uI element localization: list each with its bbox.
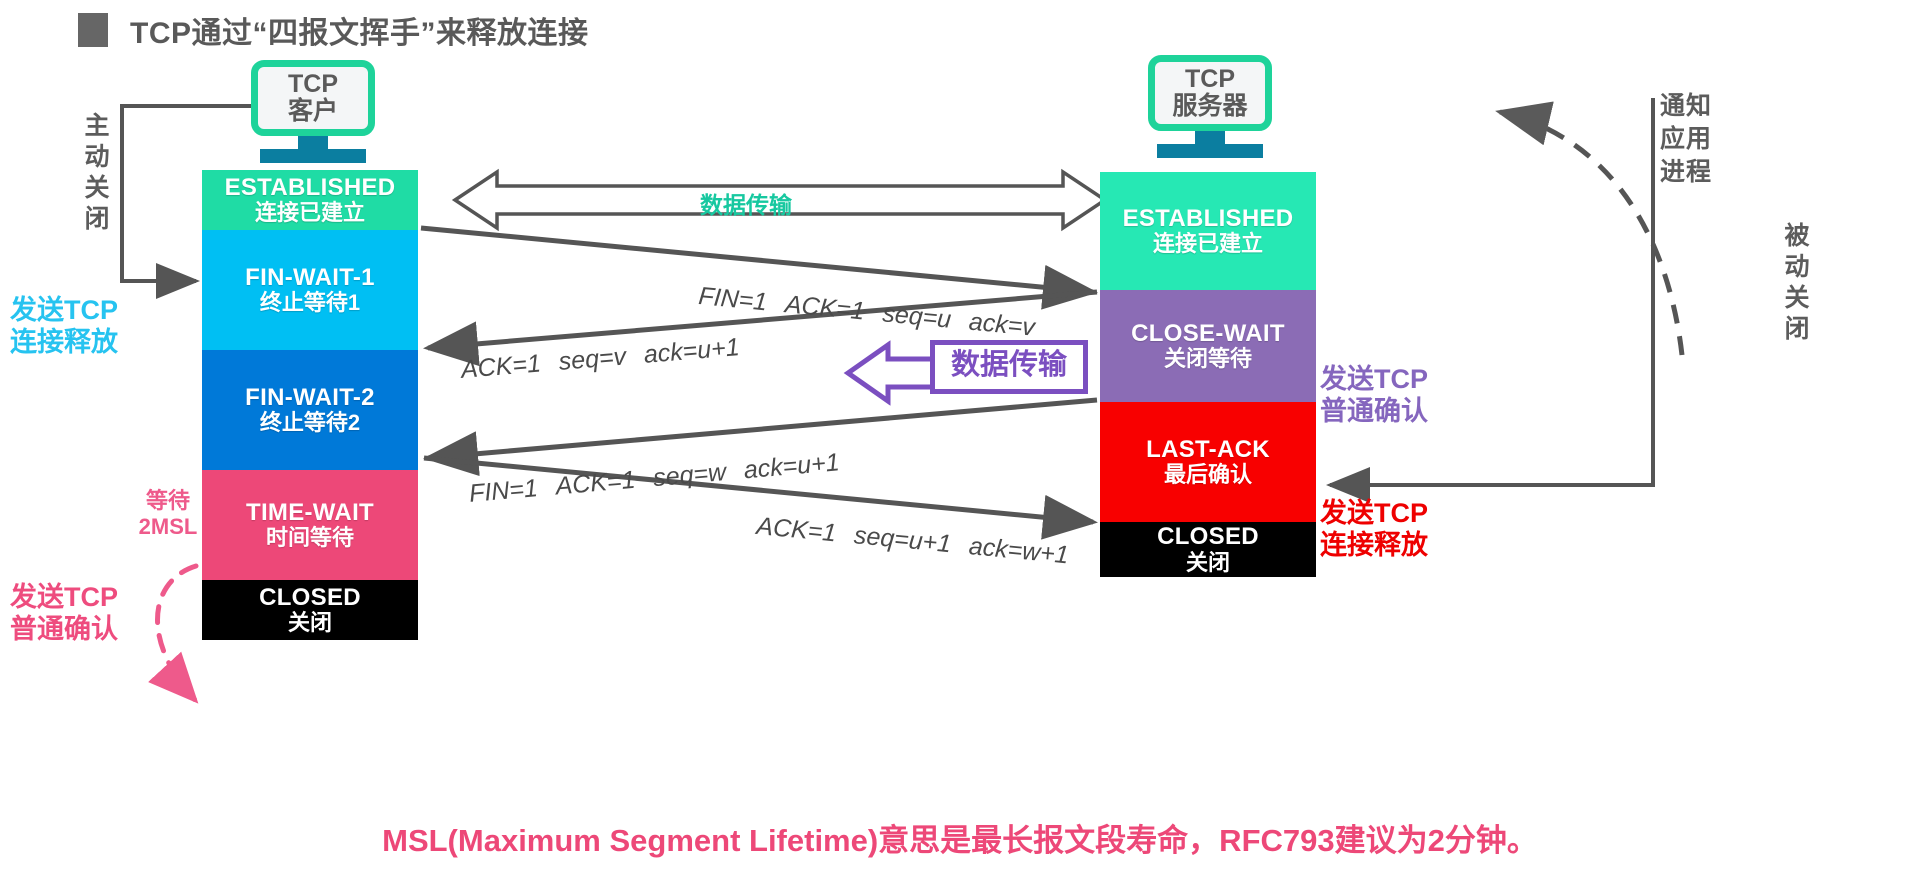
right-note-2-line1: 发送TCP [1320,498,1428,530]
data-transfer-callout-label: 数据传输 [930,340,1088,394]
left-note-1-line2: 连接释放 [10,327,118,359]
state-name-en: CLOSE-WAIT [1131,321,1285,347]
state-box-time-wait: TIME-WAIT时间等待 [202,470,418,580]
server-monitor-base [1157,144,1263,158]
left-note-send-tcp-ack: 发送TCP 普通确认 [10,582,118,646]
server-monitor-neck [1195,131,1225,144]
state-name-cn: 关闭 [288,611,332,635]
state-box-fin-wait-2: FIN-WAIT-2终止等待2 [202,350,418,470]
packet-field-gap [950,552,968,554]
state-box-closed: CLOSED关闭 [202,580,418,640]
state-box-closed: CLOSED关闭 [1100,522,1316,577]
packet-field-gap [636,486,654,488]
msl-caption: MSL(Maximum Segment Lifetime)意思是最长报文段寿命，… [0,815,1920,860]
client-label-line2: 客户 [288,98,338,125]
server-label-line2: 服务器 [1172,93,1247,120]
client-monitor-base [260,149,366,163]
client-monitor-icon: TCP 客户 [251,60,375,136]
data-transfer-top-label: 数据传输 [700,186,792,220]
right-note-send-tcp-ack: 发送TCP 普通确认 [1320,364,1428,428]
packet-field: seq=v [558,342,628,376]
server-label-line1: TCP [1185,66,1235,93]
packet-field-gap [835,541,853,543]
data-transfer-callout-arrow [848,345,934,401]
state-box-close-wait: CLOSE-WAIT关闭等待 [1100,290,1316,402]
state-name-cn: 连接已建立 [255,201,365,225]
state-name-cn: 时间等待 [266,526,354,550]
packet-field-gap [950,328,968,330]
packet-field-gap [864,320,882,322]
state-name-cn: 关闭等待 [1164,347,1252,371]
state-name-cn: 关闭 [1186,551,1230,575]
packet-arrow-fin-1 [421,228,1093,292]
state-name-cn: 最后确认 [1164,463,1252,487]
notify-line3: 进程 [1660,156,1712,189]
tcp-server-device: TCP 服务器 [1148,55,1272,158]
state-name-cn: 连接已建立 [1153,232,1263,256]
client-label-line1: TCP [288,71,338,98]
notify-line1: 通知 [1660,90,1712,123]
right-note-2-line2: 连接释放 [1320,530,1428,562]
msl-wait-label: 等待 2MSL [128,488,208,541]
packet-field-gap [727,478,745,480]
state-name-cn: 终止等待1 [260,291,360,315]
state-name-en: TIME-WAIT [246,500,374,526]
data-transfer-callout: 数据传输 [930,340,1088,394]
state-name-en: CLOSED [259,585,361,611]
server-state-stack: ESTABLISHED连接已建立CLOSE-WAIT关闭等待LAST-ACK最后… [1100,172,1316,577]
right-note-send-tcp-release: 发送TCP 连接释放 [1320,498,1428,562]
state-name-en: ESTABLISHED [225,175,396,201]
state-name-en: FIN-WAIT-1 [245,265,375,291]
left-note-1-line1: 发送TCP [10,295,118,327]
right-note-1-line1: 发送TCP [1320,364,1428,396]
packet-field-gap [538,495,556,497]
right-note-1-line2: 普通确认 [1320,396,1428,428]
left-note-2-line2: 普通确认 [10,614,118,646]
active-close-vertical-label: 主动关闭 [82,112,107,236]
left-note-2-line1: 发送TCP [10,582,118,614]
state-name-en: ESTABLISHED [1123,206,1294,232]
state-name-en: FIN-WAIT-2 [245,385,375,411]
packet-field: seq=w [652,458,727,493]
state-box-established: ESTABLISHED连接已建立 [202,170,418,230]
left-note-send-tcp-release: 发送TCP 连接释放 [10,295,118,359]
notify-app-process-label: 通知 应用 进程 [1660,90,1712,189]
msl-wait-line2: 2MSL [128,514,208,540]
state-name-cn: 终止等待2 [260,411,360,435]
packet-field: ack=v [968,308,1036,343]
state-box-established: ESTABLISHED连接已建立 [1100,172,1316,290]
state-box-last-ack: LAST-ACK最后确认 [1100,402,1316,522]
packet-field: FIN=1 [468,474,539,509]
tcp-client-device: TCP 客户 [251,60,375,163]
client-state-stack: ESTABLISHED连接已建立FIN-WAIT-1终止等待1FIN-WAIT-… [202,170,418,640]
state-box-fin-wait-1: FIN-WAIT-1终止等待1 [202,230,418,350]
client-monitor-neck [298,136,328,149]
packet-field-gap [541,370,559,371]
state-name-en: LAST-ACK [1146,437,1270,463]
packet-field-gap [766,310,784,312]
diagram-canvas: TCP通过“四报文挥手”来释放连接 [0,0,1920,896]
packet-field-gap [627,363,645,364]
state-name-en: CLOSED [1157,524,1259,550]
msl-wait-line1: 等待 [128,488,208,514]
server-monitor-icon: TCP 服务器 [1148,55,1272,131]
notify-line2: 应用 [1660,123,1712,156]
msl-dashed-arrow [158,566,196,700]
packet-arrow-fin-2 [428,400,1097,458]
passive-close-vertical-label: 被动关闭 [1782,222,1807,346]
